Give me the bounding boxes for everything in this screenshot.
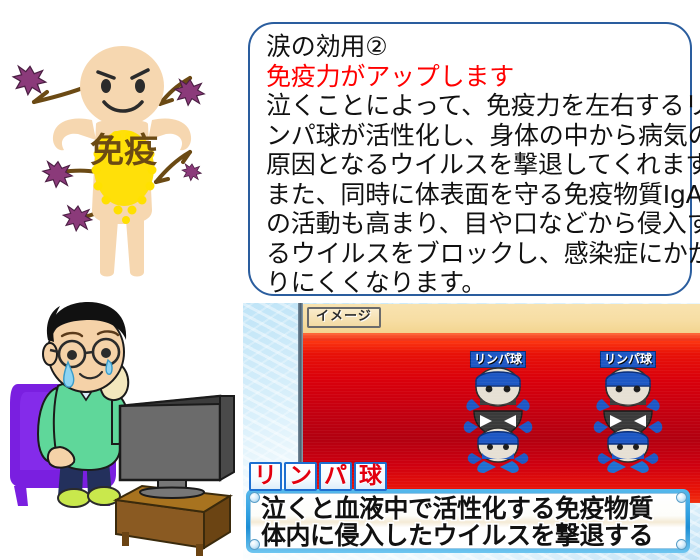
bubble-line-8: りにくくなります。 xyxy=(266,268,676,298)
title-char-1: ン xyxy=(284,462,317,491)
crying-man-watching-tv-illustration xyxy=(8,300,240,558)
title-char-0: リ xyxy=(249,462,282,491)
immune-person-illustration: 免疫 xyxy=(0,20,248,292)
lymphocyte-tag-2: リンパ球 xyxy=(600,351,656,368)
bubble-line-7: るウイルスをブロックし、感染症にかか xyxy=(266,239,676,269)
title-char-2: パ xyxy=(319,462,352,491)
explanation-bubble: 涙の効用② 免疫力がアップします 泣くことによって、免疫力を左右するリ ンパ球が… xyxy=(248,22,692,296)
video-caption-box: 泣くと血液中で活性化する免疫物質 体内に侵入したウイルスを撃退する xyxy=(246,489,690,553)
tv-shape xyxy=(120,396,234,498)
lymphocyte-title-badges: リ ン パ 球 xyxy=(249,462,387,491)
screw-top-right-icon xyxy=(676,492,687,503)
video-caption-inner: 泣くと血液中で活性化する免疫物質 体内に侵入したウイルスを撃退する xyxy=(250,493,686,549)
immune-label-top: 免疫 xyxy=(90,131,158,171)
bubble-line-5: また、同時に体表面を守る免疫物質IgA xyxy=(266,180,676,210)
lymphocyte-character-1: リンパ球 xyxy=(458,351,538,476)
title-char-3: 球 xyxy=(354,462,387,491)
lymphocyte-tag-1: リンパ球 xyxy=(470,351,526,368)
caption-line-2: 体内に侵入したウイルスを撃退する xyxy=(261,522,679,549)
caption-line-1: 泣くと血液中で活性化する免疫物質 xyxy=(261,495,679,522)
bubble-line-2: 泣くことによって、免疫力を左右するリ xyxy=(266,91,676,121)
slide-root: 免疫 涙の効用② 免疫力がアップします 泣くことによって、免疫力を左右するリ ン… xyxy=(0,0,700,560)
bubble-line-6: の活動も高まり、目や口などから侵入す xyxy=(266,209,676,239)
screw-bottom-right-icon xyxy=(676,539,687,550)
bubble-line-3: ンパ球が活性化し、身体の中から病気の xyxy=(266,121,676,151)
image-badge-label: イメージ xyxy=(307,307,381,328)
screw-top-left-icon xyxy=(249,492,260,503)
lymphocyte-character-2: リンパ球 xyxy=(588,351,668,476)
bubble-line-0: 涙の効用② xyxy=(266,32,676,62)
bubble-line-4: 原因となるウイルスを撃退してくれます。 xyxy=(266,150,676,180)
bubble-line-1: 免疫力がアップします xyxy=(266,62,676,92)
screw-bottom-left-icon xyxy=(249,539,260,550)
